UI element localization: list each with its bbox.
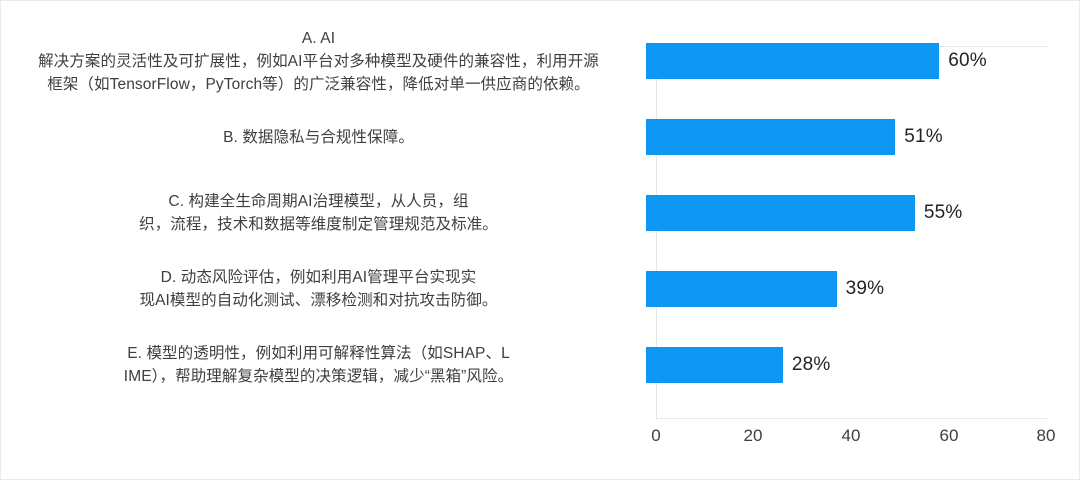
category-label-a: A. AI 解决方案的灵活性及可扩展性，例如AI平台对多种模型及硬件的兼容性，利…: [1, 27, 646, 96]
chart-row-a: A. AI 解决方案的灵活性及可扩展性，例如AI平台对多种模型及硬件的兼容性，利…: [1, 23, 1080, 99]
x-tick-80: 80: [1037, 426, 1056, 446]
x-tick-0: 0: [651, 426, 660, 446]
bar-b[interactable]: [646, 119, 895, 155]
chart-row-b: B. 数据隐私与合规性保障。 51%: [1, 99, 1080, 175]
bar-value-a: 60%: [948, 50, 987, 72]
bar-value-e: 28%: [792, 354, 831, 376]
category-label-b: B. 数据隐私与合规性保障。: [1, 126, 646, 149]
bar-zone-b: 51%: [646, 99, 1080, 175]
x-tick-60: 60: [940, 426, 959, 446]
bar-e[interactable]: [646, 347, 783, 383]
chart-row-e: E. 模型的透明性，例如利用可解释性算法（如SHAP、L IME），帮助理解复杂…: [1, 327, 1080, 403]
chart-row-d: D. 动态风险评估，例如利用AI管理平台实现实 现AI模型的自动化测试、漂移检测…: [1, 251, 1080, 327]
bar-value-b: 51%: [904, 126, 943, 148]
bar-value-d: 39%: [846, 278, 885, 300]
bar-value-c: 55%: [924, 202, 963, 224]
category-label-d: D. 动态风险评估，例如利用AI管理平台实现实 现AI模型的自动化测试、漂移检测…: [1, 266, 646, 312]
bar-zone-d: 39%: [646, 251, 1080, 327]
bar-a[interactable]: [646, 43, 939, 79]
x-axis: 0 20 40 60 80: [656, 426, 1047, 454]
category-label-e: E. 模型的透明性，例如利用可解释性算法（如SHAP、L IME），帮助理解复杂…: [1, 342, 646, 388]
bar-zone-a: 60%: [646, 23, 1080, 99]
bar-zone-e: 28%: [646, 327, 1080, 403]
bar-c[interactable]: [646, 195, 915, 231]
x-tick-40: 40: [842, 426, 861, 446]
category-label-c: C. 构建全生命周期AI治理模型，从人员，组 织，流程，技术和数据等维度制定管理…: [1, 190, 646, 236]
bar-d[interactable]: [646, 271, 837, 307]
bar-chart: A. AI 解决方案的灵活性及可扩展性，例如AI平台对多种模型及硬件的兼容性，利…: [0, 0, 1080, 480]
bar-zone-c: 55%: [646, 175, 1080, 251]
x-tick-20: 20: [744, 426, 763, 446]
chart-row-c: C. 构建全生命周期AI治理模型，从人员，组 织，流程，技术和数据等维度制定管理…: [1, 175, 1080, 251]
